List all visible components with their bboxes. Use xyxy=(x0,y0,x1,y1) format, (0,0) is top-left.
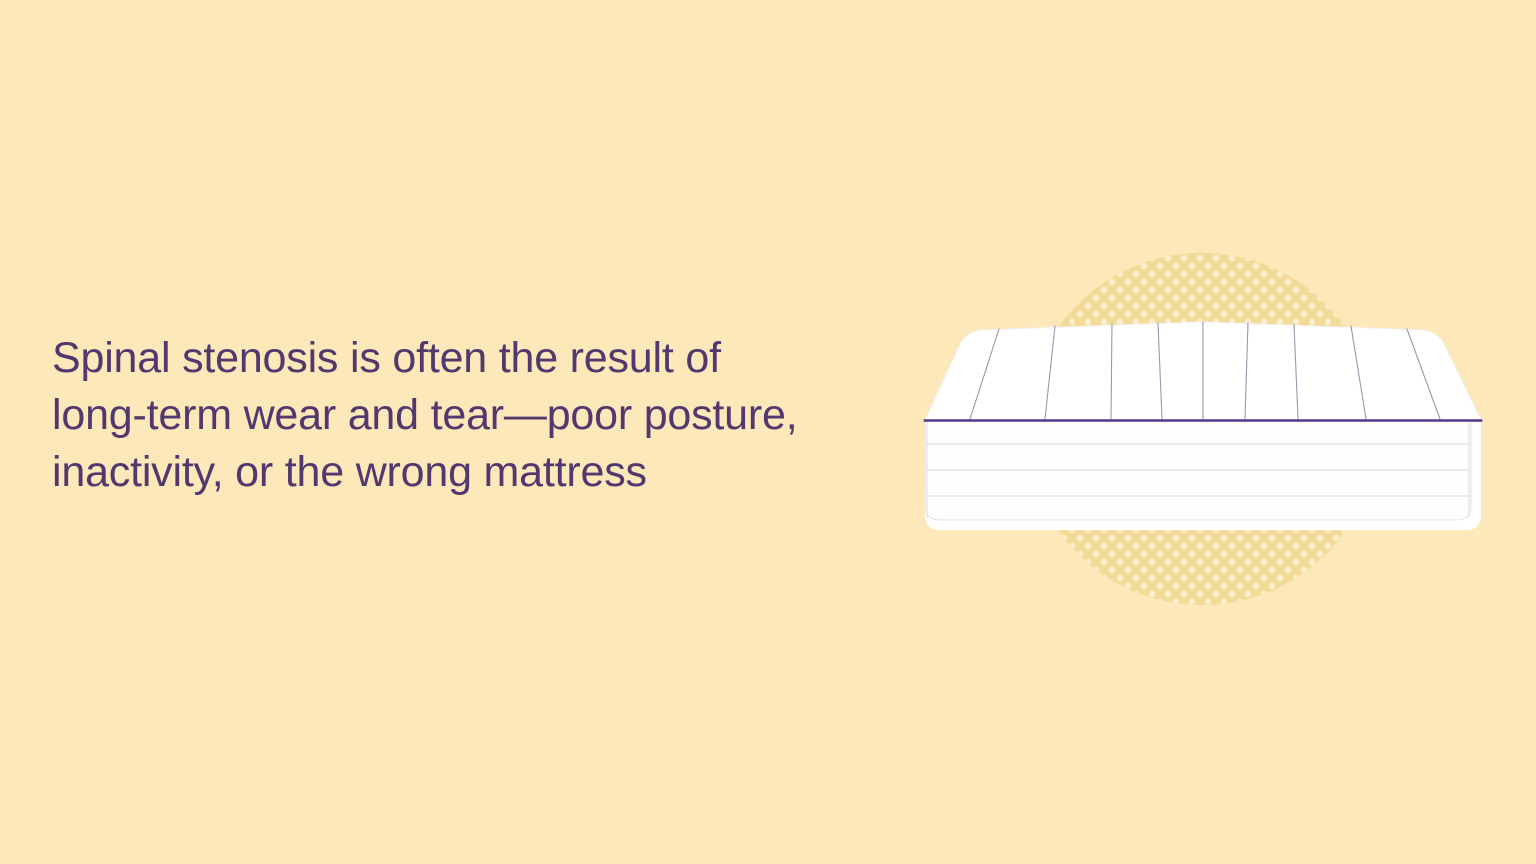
mattress-graphic xyxy=(925,322,1481,530)
slide-canvas: Spinal stenosis is often the result of l… xyxy=(0,0,1536,864)
page-title: Spinal stenosis is often the result of l… xyxy=(52,330,902,502)
mattress-illustration xyxy=(900,230,1520,630)
